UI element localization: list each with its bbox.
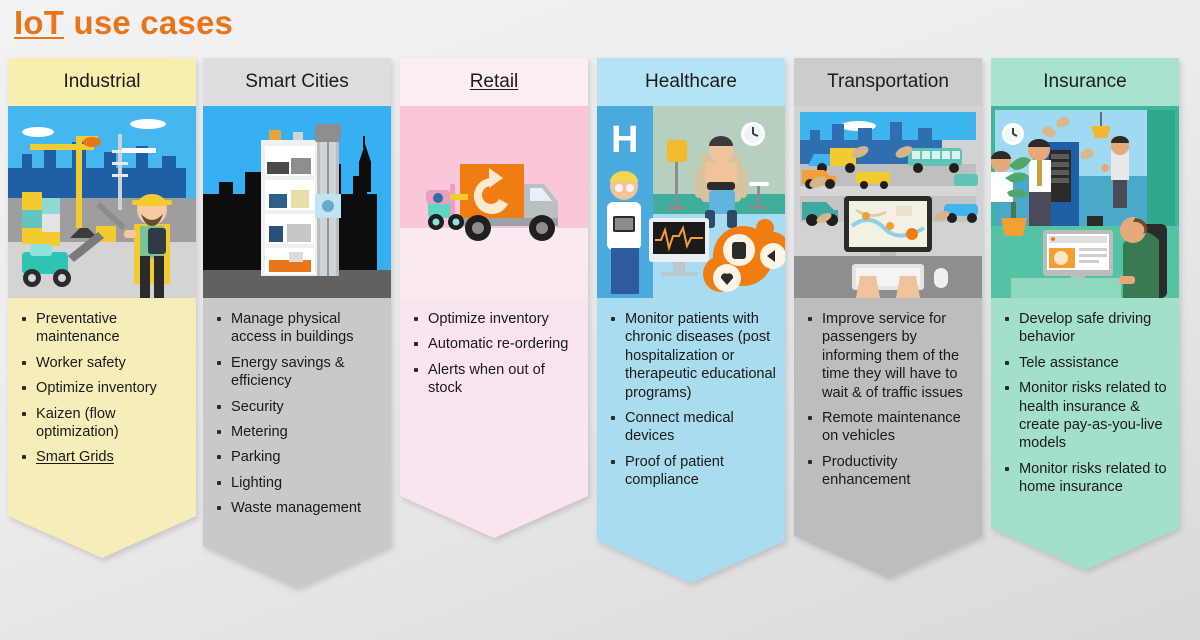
bullet-text: Monitor patients with chronic diseases (… bbox=[625, 311, 776, 401]
use-case-column-retail[interactable]: Retail Optimize inventoryAutomatic re-or… bbox=[400, 58, 588, 538]
column-shape-retail: Retail Optimize inventoryAutomatic re-or… bbox=[400, 58, 588, 538]
bullet-text: Alerts when out of stock bbox=[428, 362, 545, 396]
bullet-text: Optimize inventory bbox=[36, 380, 157, 396]
column-header-smart-cities[interactable]: Smart Cities bbox=[203, 58, 391, 106]
bullet-text: Metering bbox=[231, 424, 288, 440]
bullet-item: Remote maintenance on vehicles bbox=[800, 409, 974, 446]
bullet-text: Connect medical devices bbox=[625, 410, 734, 444]
traffic-monitoring-desk-illustration bbox=[794, 106, 982, 298]
column-shape-insurance: Insurance bbox=[991, 58, 1179, 570]
bullet-list-healthcare: Monitor patients with chronic diseases (… bbox=[603, 310, 777, 489]
column-header-label-retail: Retail bbox=[470, 71, 519, 93]
bullet-item: Monitor risks related to home insurance bbox=[997, 460, 1171, 497]
column-shape-industrial: Industrial bbox=[8, 58, 196, 558]
bullet-list-insurance: Develop safe driving behaviorTele assist… bbox=[997, 310, 1171, 496]
column-header-insurance[interactable]: Insurance bbox=[991, 58, 1179, 106]
bullet-text: Productivity enhancement bbox=[822, 454, 910, 488]
bullet-item: Proof of patient compliance bbox=[603, 453, 777, 490]
delivery-truck-forklift-illustration bbox=[400, 106, 588, 298]
bullet-text: Energy savings & efficiency bbox=[231, 355, 345, 389]
bullet-text: Develop safe driving behavior bbox=[1019, 311, 1151, 345]
bullet-text: Parking bbox=[231, 449, 280, 465]
bullet-item: Metering bbox=[209, 423, 383, 441]
column-header-label-transportation: Transportation bbox=[827, 71, 949, 93]
bullet-text: Smart Grids bbox=[36, 449, 114, 465]
column-bullets-smart-cities: Manage physical access in buildingsEnerg… bbox=[203, 298, 391, 588]
column-header-label-industrial: Industrial bbox=[63, 71, 140, 93]
bullet-item: Waste management bbox=[209, 499, 383, 517]
bullet-item: Optimize inventory bbox=[14, 379, 188, 397]
bullet-text: Proof of patient compliance bbox=[625, 454, 724, 488]
page-title-rest: use cases bbox=[64, 4, 233, 41]
bullet-item: Security bbox=[209, 398, 383, 416]
column-header-transportation[interactable]: Transportation bbox=[794, 58, 982, 106]
construction-site-illustration bbox=[8, 106, 196, 298]
page-title-underlined-part: IoT bbox=[14, 4, 64, 41]
column-bullets-retail: Optimize inventoryAutomatic re-orderingA… bbox=[400, 298, 588, 538]
bullet-text: Monitor risks related to health insuranc… bbox=[1019, 380, 1167, 451]
column-header-label-insurance: Insurance bbox=[1043, 71, 1126, 93]
bullet-item: Parking bbox=[209, 448, 383, 466]
bullet-text: Worker safety bbox=[36, 355, 126, 371]
building-elevator-city-illustration bbox=[203, 106, 391, 298]
use-case-column-insurance[interactable]: Insurance bbox=[991, 58, 1179, 570]
column-bullets-insurance: Develop safe driving behaviorTele assist… bbox=[991, 298, 1179, 570]
bullet-item: Smart Grids bbox=[14, 448, 188, 466]
delivery-truck-forklift-illustration bbox=[400, 106, 588, 298]
bullet-item: Preventative maintenance bbox=[14, 310, 188, 347]
use-case-columns: Industrial bbox=[0, 58, 1200, 638]
bullet-text: Manage physical access in buildings bbox=[231, 311, 354, 345]
hospital-patient-monitoring-illustration: H bbox=[597, 106, 785, 298]
column-header-healthcare[interactable]: Healthcare bbox=[597, 58, 785, 106]
hospital-patient-monitoring-illustration: H bbox=[597, 106, 785, 298]
bullet-item: Alerts when out of stock bbox=[406, 361, 580, 398]
bullet-item: Energy savings & efficiency bbox=[209, 354, 383, 391]
bullet-text: Lighting bbox=[231, 475, 282, 491]
bullet-list-transportation: Improve service for passengers by inform… bbox=[800, 310, 974, 489]
bullet-text: Automatic re-ordering bbox=[428, 336, 568, 352]
traffic-monitoring-desk-illustration bbox=[794, 106, 982, 298]
building-elevator-city-illustration bbox=[203, 106, 391, 298]
use-case-column-transportation[interactable]: Transportation bbox=[794, 58, 982, 578]
column-shape-transportation: Transportation bbox=[794, 58, 982, 578]
use-case-column-healthcare[interactable]: Healthcare H bbox=[597, 58, 785, 583]
office-workers-computer-illustration bbox=[991, 106, 1179, 298]
bullet-item: Kaizen (flow optimization) bbox=[14, 405, 188, 442]
column-header-label-smart-cities: Smart Cities bbox=[245, 71, 348, 93]
use-case-column-industrial[interactable]: Industrial bbox=[8, 58, 196, 558]
office-workers-computer-illustration bbox=[991, 106, 1179, 298]
bullet-list-retail: Optimize inventoryAutomatic re-orderingA… bbox=[406, 310, 580, 398]
page-title: IoT use cases bbox=[14, 4, 233, 42]
bullet-text: Security bbox=[231, 399, 284, 415]
bullet-item: Automatic re-ordering bbox=[406, 335, 580, 353]
svg-text:H: H bbox=[611, 119, 638, 161]
bullet-item: Worker safety bbox=[14, 354, 188, 372]
bullet-text: Improve service for passengers by inform… bbox=[822, 311, 963, 401]
bullet-item: Optimize inventory bbox=[406, 310, 580, 328]
bullet-text: Kaizen (flow optimization) bbox=[36, 406, 119, 440]
column-bullets-transportation: Improve service for passengers by inform… bbox=[794, 298, 982, 578]
bullet-item: Connect medical devices bbox=[603, 409, 777, 446]
column-header-industrial[interactable]: Industrial bbox=[8, 58, 196, 106]
column-header-label-healthcare: Healthcare bbox=[645, 71, 737, 93]
bullet-text: Remote maintenance on vehicles bbox=[822, 410, 961, 444]
bullet-text: Preventative maintenance bbox=[36, 311, 120, 345]
column-header-retail[interactable]: Retail bbox=[400, 58, 588, 106]
bullet-text: Optimize inventory bbox=[428, 311, 549, 327]
bullet-item: Monitor risks related to health insuranc… bbox=[997, 379, 1171, 453]
bullet-item: Improve service for passengers by inform… bbox=[800, 310, 974, 402]
bullet-item: Monitor patients with chronic diseases (… bbox=[603, 310, 777, 402]
bullet-item: Develop safe driving behavior bbox=[997, 310, 1171, 347]
bullet-text: Tele assistance bbox=[1019, 355, 1119, 371]
bullet-text: Monitor risks related to home insurance bbox=[1019, 461, 1167, 495]
column-bullets-healthcare: Monitor patients with chronic diseases (… bbox=[597, 298, 785, 583]
bullet-list-smart-cities: Manage physical access in buildingsEnerg… bbox=[209, 310, 383, 517]
bullet-item: Tele assistance bbox=[997, 354, 1171, 372]
column-bullets-industrial: Preventative maintenanceWorker safetyOpt… bbox=[8, 298, 196, 558]
column-shape-healthcare: Healthcare H bbox=[597, 58, 785, 583]
bullet-item: Lighting bbox=[209, 474, 383, 492]
use-case-column-smart-cities[interactable]: Smart Cities Manage physical access in b… bbox=[203, 58, 391, 588]
construction-site-illustration bbox=[8, 106, 196, 298]
bullet-text: Waste management bbox=[231, 500, 361, 516]
bullet-item: Manage physical access in buildings bbox=[209, 310, 383, 347]
column-shape-smart-cities: Smart Cities Manage physical access in b… bbox=[203, 58, 391, 588]
bullet-list-industrial: Preventative maintenanceWorker safetyOpt… bbox=[14, 310, 188, 467]
bullet-item: Productivity enhancement bbox=[800, 453, 974, 490]
